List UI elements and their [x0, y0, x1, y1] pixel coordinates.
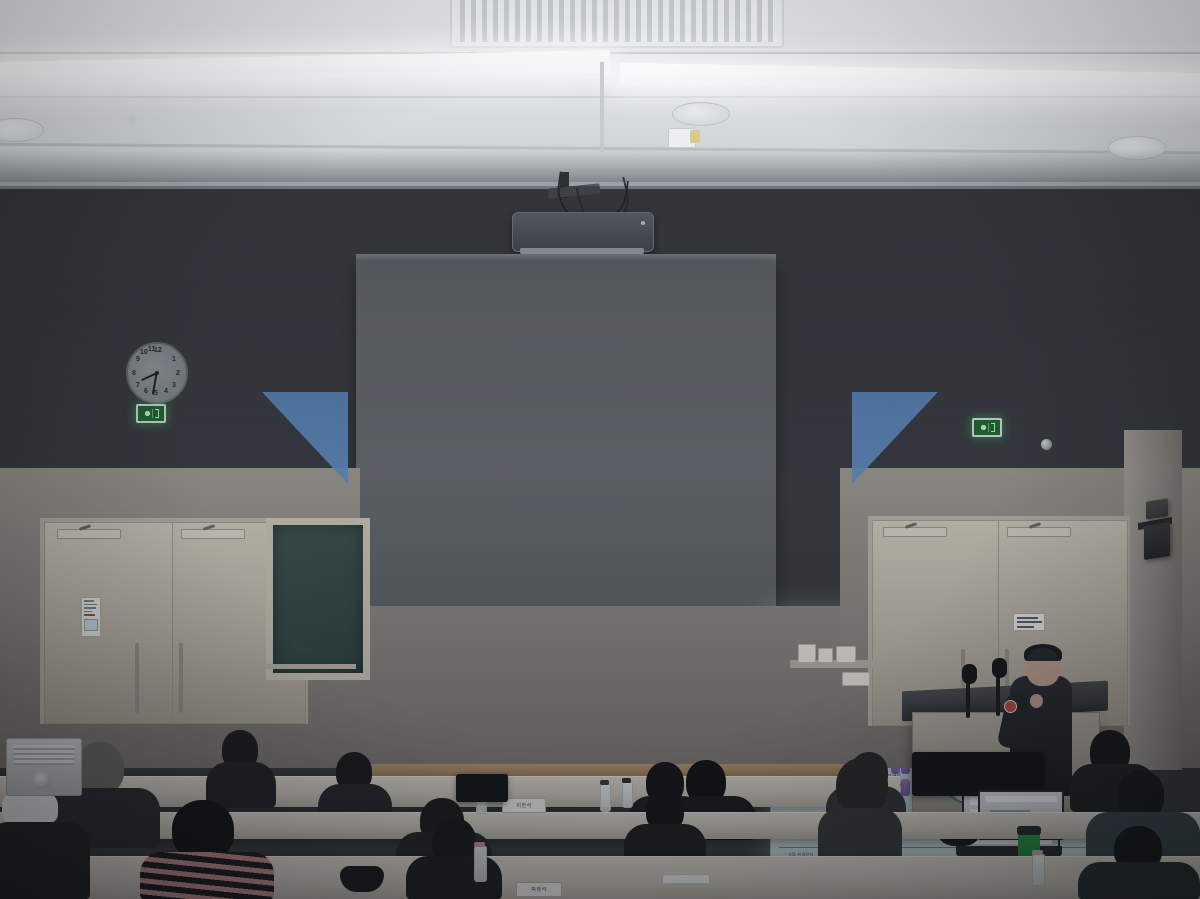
- blue-banner-right: [852, 392, 938, 484]
- foreground-bag: [340, 866, 384, 892]
- left-door-handle-b[interactable]: [179, 643, 183, 713]
- microphone-head: [962, 664, 977, 684]
- nameplate-1: 이한석: [502, 798, 546, 813]
- wall-speaker: [1144, 522, 1170, 560]
- exit-sign-right: [972, 418, 1002, 437]
- ledge-box-2: [818, 648, 833, 663]
- water-bottle-3-cap: [622, 778, 631, 783]
- water-bottle-4[interactable]: [474, 846, 487, 882]
- door-closer-d: [1007, 527, 1071, 537]
- ledge-box-1: [798, 644, 816, 663]
- ceiling: [0, 0, 1200, 186]
- projector-lens: [1041, 439, 1052, 450]
- water-bottle-5-cap: [1032, 850, 1043, 855]
- wall-clock: 12 1 2 3 4 5 6 7 8 9 10 11: [126, 342, 188, 404]
- exit-running-man-icon: [143, 409, 159, 418]
- ceiling-projector: [512, 212, 654, 252]
- exit-running-man-icon: [979, 423, 995, 432]
- door-closer-a: [57, 529, 121, 539]
- door-closer-c: [883, 527, 947, 537]
- ceiling-sensor-cable: [690, 130, 700, 143]
- presenter-hand: [1030, 694, 1043, 708]
- chalk-tray: [266, 664, 356, 669]
- presenter-badge: [1004, 700, 1017, 713]
- smoke-detector: [128, 116, 137, 125]
- door-notice-poster: [81, 597, 101, 637]
- nameplate-2: 박정석: [516, 882, 562, 897]
- left-door-panel-a[interactable]: [44, 522, 174, 724]
- ceiling-speaker-left: [0, 118, 44, 142]
- blue-banner-left: [262, 392, 348, 484]
- door-closer-b: [181, 529, 245, 539]
- wall-speaker-top: [1146, 498, 1168, 519]
- ledge-box-3: [836, 646, 856, 663]
- exit-sign-left: [136, 404, 166, 423]
- left-door-handle-a[interactable]: [135, 643, 139, 713]
- desk-monitor: [456, 774, 508, 802]
- presenter-head: [1026, 648, 1060, 686]
- desk-paper-slip: [662, 874, 710, 884]
- right-door-sign: [1013, 613, 1045, 631]
- right-pillar: [1124, 430, 1182, 770]
- microphone-stand-2: [996, 674, 1000, 716]
- back-wall: [340, 606, 860, 776]
- lecture-hall-photo: 선행 연구 내용: CAR-T.BiTE 개발 ◇ CAR-T – 암세포에 대…: [0, 0, 1200, 899]
- ceiling-speaker-center: [672, 102, 730, 126]
- water-bottle-3[interactable]: [622, 782, 633, 808]
- water-bottle-4-cap: [474, 842, 485, 847]
- air-conditioner-unit: [6, 738, 82, 796]
- ceiling-light-strip-right: [620, 63, 1200, 95]
- ledge-box-4: [842, 672, 870, 686]
- water-bottle-5[interactable]: [1032, 854, 1045, 886]
- ceiling-light-strip-left: [0, 50, 610, 86]
- podium-laptop-keyboard[interactable]: [956, 846, 1062, 856]
- microphone-head-2: [992, 658, 1007, 678]
- vent-grill: [460, 0, 774, 42]
- water-bottle-2-cap: [600, 780, 609, 785]
- microphone-stand: [966, 680, 970, 718]
- water-bottle-2[interactable]: [600, 784, 611, 812]
- green-tumbler-lid: [1017, 826, 1041, 835]
- chalkboard: [266, 518, 370, 680]
- ceiling-air-vent: [450, 0, 784, 48]
